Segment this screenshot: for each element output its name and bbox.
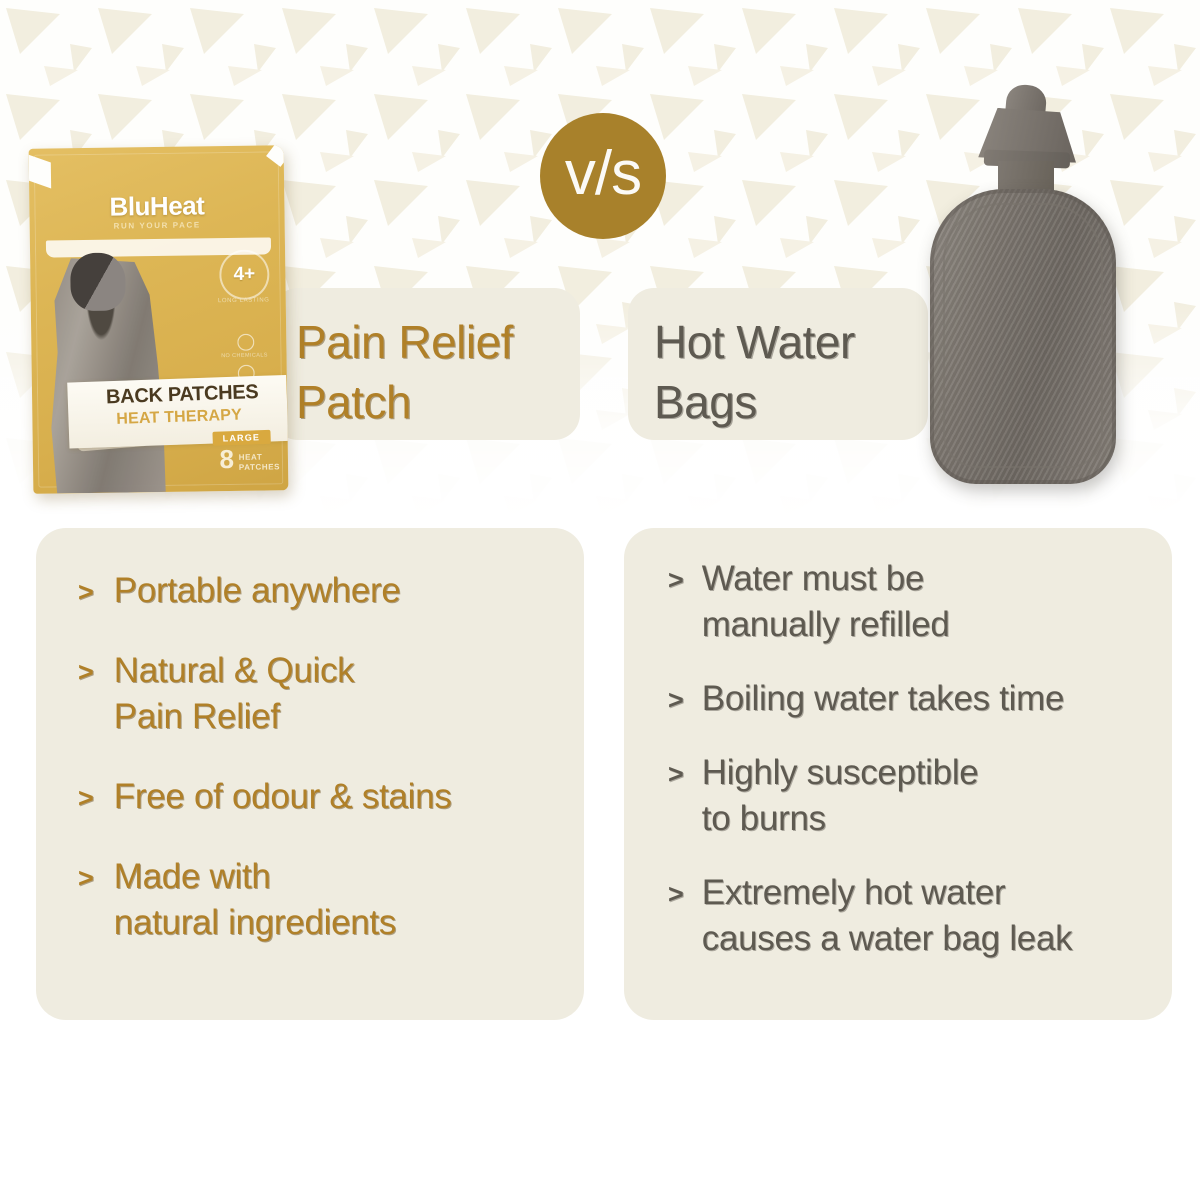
list-item-label: Natural & Quick Pain Relief [114, 648, 355, 740]
list-item: > Extremely hot water causes a water bag… [668, 870, 1146, 962]
chevron-right-icon: > [668, 871, 684, 917]
chevron-right-icon: > [668, 677, 684, 723]
list-item-label: Extremely hot water causes a water bag l… [702, 870, 1073, 962]
package-feature-icon-1 [237, 334, 254, 351]
left-benefits-panel: > Portable anywhere > Natural & Quick Pa… [36, 528, 584, 1020]
bottle-body [930, 189, 1116, 484]
package-feature-label-1: NO CHEMICALS [214, 352, 274, 359]
chevron-right-icon: > [668, 557, 684, 603]
right-drawbacks-list: > Water must be manually refilled > Boil… [668, 556, 1146, 962]
right-drawbacks-panel: > Water must be manually refilled > Boil… [624, 528, 1172, 1020]
package-model-head [70, 252, 126, 311]
chevron-right-icon: > [78, 855, 94, 901]
chevron-right-icon: > [78, 569, 94, 615]
list-item: > Water must be manually refilled [668, 556, 1146, 648]
list-item: > Free of odour & stains [78, 774, 558, 820]
right-column-title: Hot Water Bags [654, 312, 928, 432]
list-item-label: Boiling water takes time [702, 676, 1064, 722]
chevron-right-icon: > [668, 751, 684, 797]
package-brand-name: BluHeat [29, 189, 284, 224]
list-item: > Made with natural ingredients [78, 854, 558, 946]
pain-relief-patch-package-image: BluHeat RUN YOUR PACE 4+ LONG LASTING NO… [29, 145, 289, 494]
package-hours-badge-sub: LONG LASTING [216, 297, 272, 304]
list-item: > Natural & Quick Pain Relief [78, 648, 558, 740]
list-item-label: Portable anywhere [114, 568, 401, 614]
chevron-right-icon: > [78, 775, 94, 821]
package-patch-count: 8 [219, 444, 234, 475]
list-item: > Highly susceptible to burns [668, 750, 1146, 842]
chevron-right-icon: > [78, 649, 94, 695]
list-item-label: Free of odour & stains [114, 774, 452, 820]
list-item-label: Made with natural ingredients [114, 854, 396, 946]
left-column-title: Pain Relief Patch [296, 312, 580, 432]
left-benefits-list: > Portable anywhere > Natural & Quick Pa… [78, 568, 558, 946]
package-patch-count-label: HEAT PATCHES [239, 452, 281, 473]
right-column-header-panel: Hot Water Bags [628, 288, 928, 440]
list-item-label: Water must be manually refilled [702, 556, 950, 648]
list-item: > Portable anywhere [78, 568, 558, 614]
left-column-header-panel: Pain Relief Patch [272, 288, 580, 440]
list-item: > Boiling water takes time [668, 676, 1146, 722]
hot-water-bottle-image [924, 85, 1120, 485]
versus-badge: v/s [540, 113, 666, 239]
versus-badge-label: v/s [565, 143, 641, 205]
list-item-label: Highly susceptible to burns [702, 750, 979, 842]
